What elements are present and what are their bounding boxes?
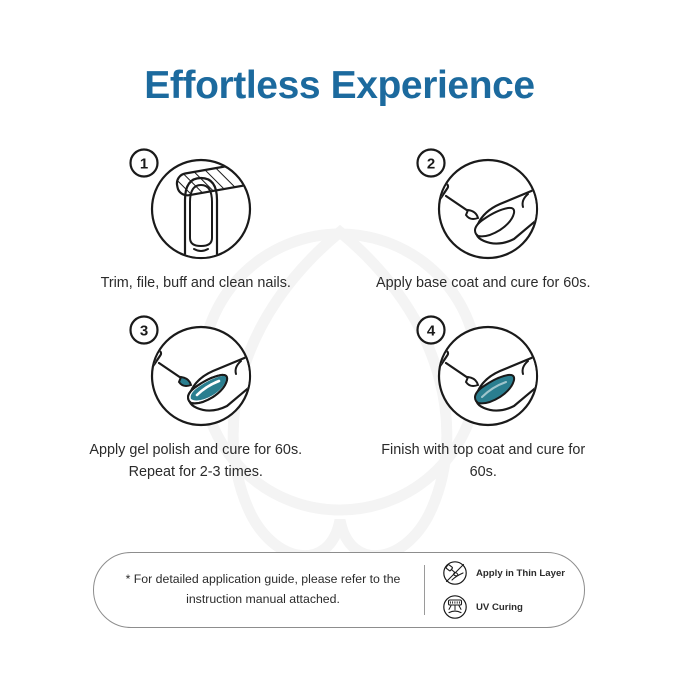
step-4-caption: Finish with top coat and cure for 60s. xyxy=(367,440,599,484)
footer-icon-label-uv-curing: UV Curing xyxy=(476,602,523,613)
footer-icon-item-thin-layer: Apply in Thin Layer xyxy=(442,560,584,586)
steps-grid: 1 Trim, file, buff and clean nails. xyxy=(52,142,627,484)
step-2: 2 Apply base coat and cure for 60s. xyxy=(340,142,628,295)
step-4-illustration-wrap: 4 xyxy=(408,309,558,433)
step-1-number: 1 xyxy=(140,156,148,173)
step-3-caption: Apply gel polish and cure for 60s. Repea… xyxy=(80,440,312,484)
step-4: 4 Finish with top coat and cure for 60s. xyxy=(340,309,628,484)
infographic-page: Effortless Experience xyxy=(0,0,679,679)
nail-file-icon: 1 xyxy=(121,142,271,266)
uv-lamp-icon xyxy=(442,594,468,620)
footer-note-text: * For detailed application guide, please… xyxy=(94,570,424,610)
step-2-caption: Apply base coat and cure for 60s. xyxy=(367,273,599,295)
footer-icon-list: Apply in Thin Layer UV Curing xyxy=(425,560,584,620)
footer-icon-item-uv-curing: UV Curing xyxy=(442,594,584,620)
top-coat-brush-icon: 4 xyxy=(408,309,558,433)
step-3-number: 3 xyxy=(140,322,148,339)
step-1-caption: Trim, file, buff and clean nails. xyxy=(80,273,312,295)
step-3-illustration-wrap: 3 xyxy=(121,309,271,433)
page-title: Effortless Experience xyxy=(0,64,679,108)
step-3: 3 Apply gel polish and cure for 60s. Rep… xyxy=(52,309,340,484)
footer-note-box: * For detailed application guide, please… xyxy=(93,552,585,628)
step-1-illustration-wrap: 1 xyxy=(121,142,271,266)
base-coat-brush-icon: 2 xyxy=(408,142,558,266)
footer-icon-label-thin-layer: Apply in Thin Layer xyxy=(476,568,565,579)
step-2-number: 2 xyxy=(427,156,435,173)
gel-polish-brush-icon: 3 xyxy=(121,309,271,433)
step-2-illustration-wrap: 2 xyxy=(408,142,558,266)
step-1: 1 Trim, file, buff and clean nails. xyxy=(52,142,340,295)
step-4-number: 4 xyxy=(427,322,436,339)
thin-layer-brush-icon xyxy=(442,560,468,586)
